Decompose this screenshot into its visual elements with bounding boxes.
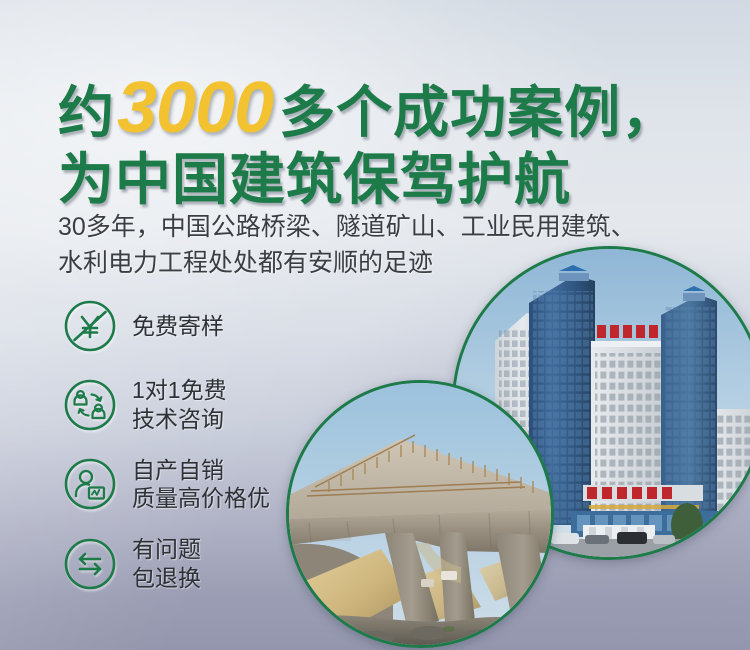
feature-line-1: 1对1免费 <box>132 376 227 405</box>
feature-list: 免费寄样 <box>62 298 270 615</box>
feature-label-quality: 自产自销 质量高价格优 <box>132 456 270 514</box>
no-fee-yuan-icon <box>62 298 118 354</box>
subtitle-line-1: 30多年，中国公路桥梁、隧道矿山、工业民用建筑、 <box>58 210 636 246</box>
person-chart-icon <box>62 456 118 512</box>
bridge-photo-image <box>289 383 551 645</box>
feature-label-free-sample: 免费寄样 <box>132 312 224 341</box>
feature-item-consultation[interactable]: 1对1免费 技术咨询 <box>62 376 270 434</box>
exchange-arrows-icon <box>62 536 118 592</box>
feature-line-2: 质量高价格优 <box>132 484 270 513</box>
page-title: 约3000多个成功案例， 为中国建筑保驾护航 <box>58 72 678 208</box>
feature-line-1: 有问题 <box>132 535 201 564</box>
promo-banner: 约3000多个成功案例， 为中国建筑保驾护航 30多年，中国公路桥梁、隧道矿山、… <box>0 0 750 650</box>
feature-line-2: 技术咨询 <box>132 405 227 434</box>
headline-number: 3000 <box>117 68 273 148</box>
two-person-exchange-icon <box>62 377 118 433</box>
feature-label-consultation: 1对1免费 技术咨询 <box>132 376 227 434</box>
headline-line2: 为中国建筑保驾护航 <box>58 148 571 211</box>
headline-prefix: 约 <box>58 81 115 144</box>
headline-suffix: 多个成功案例， <box>279 81 678 144</box>
feature-line-1: 免费寄样 <box>132 312 224 341</box>
bridge-photo <box>286 380 554 648</box>
feature-item-free-sample[interactable]: 免费寄样 <box>62 298 270 354</box>
feature-item-returns[interactable]: 有问题 包退换 <box>62 535 270 593</box>
feature-line-2: 包退换 <box>132 564 201 593</box>
feature-line-1: 自产自销 <box>132 456 270 485</box>
feature-label-returns: 有问题 包退换 <box>132 535 201 593</box>
feature-item-quality[interactable]: 自产自销 质量高价格优 <box>62 456 270 514</box>
